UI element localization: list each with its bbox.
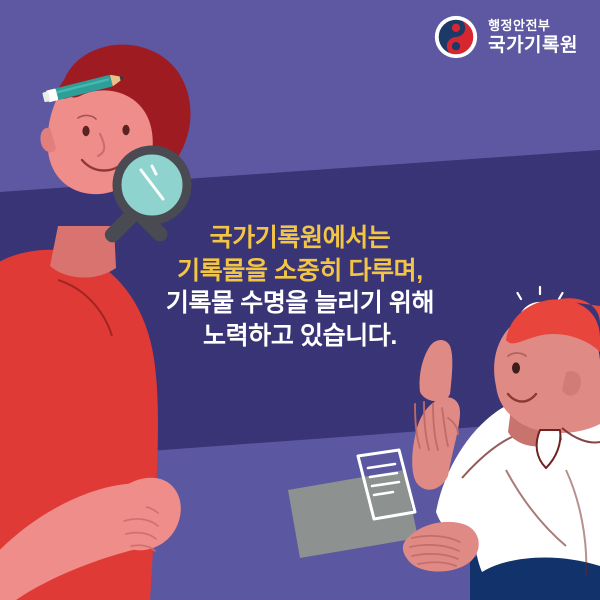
headline-text: 국가기록원에서는 기록물을 소중히 다루며, 기록물 수명을 늘리기 위해 노력… bbox=[0, 222, 600, 352]
logo-text-block: 행정안전부 국가기록원 bbox=[488, 19, 578, 55]
logo-ministry-name: 행정안전부 bbox=[488, 19, 578, 32]
card-news-slide: 행정안전부 국가기록원 국가기록원에서는 기록물을 소중히 다루며, 기록물 수… bbox=[0, 0, 600, 600]
headline-line-3: 기록물 수명을 늘리기 위해 bbox=[0, 287, 600, 320]
taegeuk-emblem bbox=[433, 14, 479, 60]
headline-line-4: 노력하고 있습니다. bbox=[0, 320, 600, 353]
agency-logo[interactable]: 행정안전부 국가기록원 bbox=[433, 14, 578, 60]
headline-line-2: 기록물을 소중히 다루며, bbox=[0, 255, 600, 288]
headline-line-1: 국가기록원에서는 bbox=[0, 222, 600, 255]
logo-agency-name: 국가기록원 bbox=[488, 36, 578, 55]
